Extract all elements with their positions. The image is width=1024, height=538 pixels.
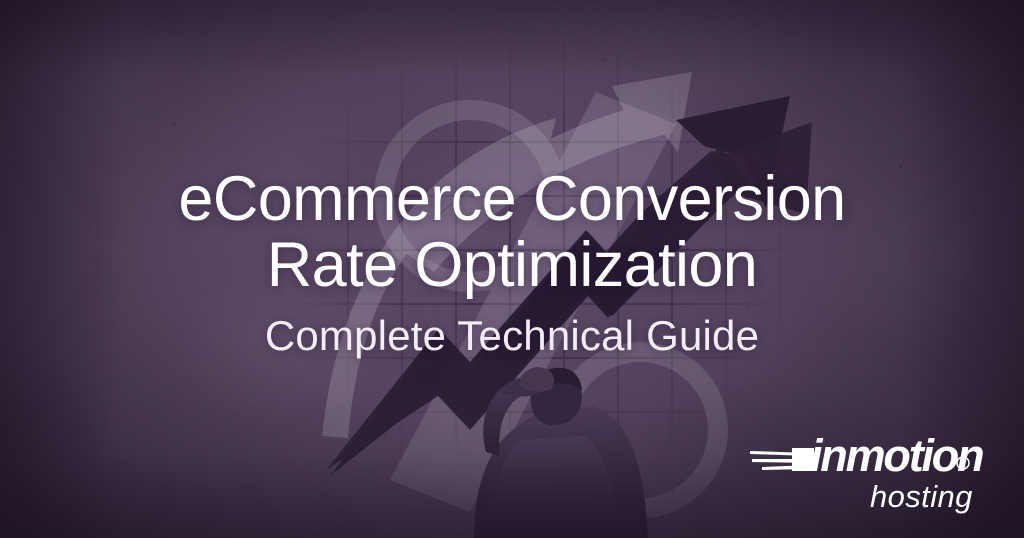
logo-tagline: hosting: [870, 479, 973, 514]
speed-lines-icon: [750, 448, 814, 471]
svg-text:R: R: [960, 459, 966, 469]
headline-block: eCommerce Conversion Rate Optimization C…: [0, 166, 1024, 359]
logo-svg: inmotion R hosting: [748, 423, 998, 515]
hero-banner: eCommerce Conversion Rate Optimization C…: [0, 0, 1024, 538]
page-subtitle: Complete Technical Guide: [0, 313, 1024, 359]
logo-wordmark: inmotion: [810, 430, 983, 481]
headline-line-1: eCommerce Conversion: [0, 166, 1024, 232]
inmotion-hosting-logo[interactable]: inmotion R hosting: [748, 423, 998, 515]
headline-line-2: Rate Optimization: [0, 232, 1024, 298]
